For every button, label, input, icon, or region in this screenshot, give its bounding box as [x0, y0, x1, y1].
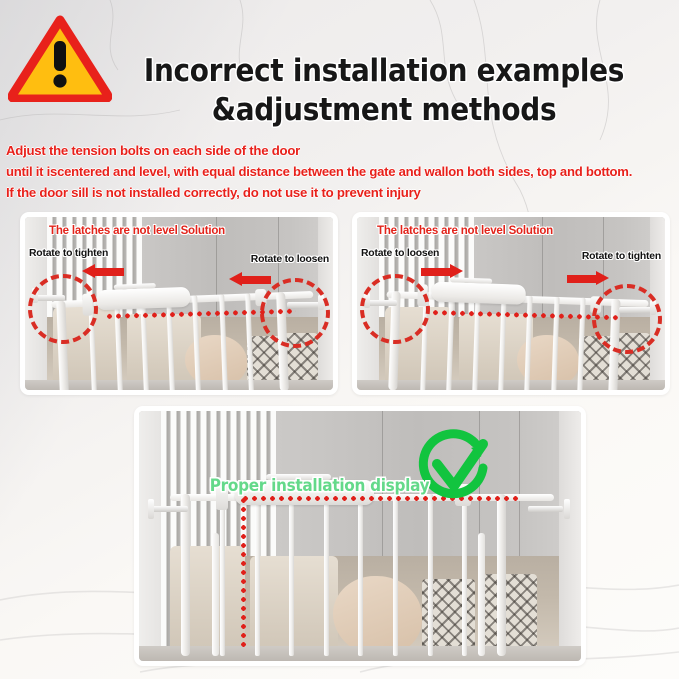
gate-latch-handle [431, 282, 526, 305]
gate-bar [192, 296, 201, 390]
gate-bar [428, 494, 433, 657]
gate-bar [550, 297, 558, 390]
instruction-line-1: Adjust the tension bolts on each side of… [6, 143, 300, 158]
gate-bar [218, 295, 227, 390]
panel-latches-not-level-right: The latches are not level Solution Rotat… [352, 212, 670, 395]
gate-bar [498, 295, 506, 390]
photo-scene-left: The latches are not level Solution Rotat… [25, 217, 333, 390]
gate-foot-left [212, 533, 219, 657]
gate-bar [255, 494, 260, 657]
instruction-line-3: If the door sill is not installed correc… [6, 185, 421, 200]
arrow-right-icon [421, 264, 463, 279]
arrow-left-icon [82, 264, 124, 279]
gate-latch-handle [95, 287, 190, 311]
arrow-left-icon [229, 272, 271, 287]
page-title-line1: Incorrect installation examples [144, 53, 624, 89]
page-title-line2: &adjustment methods [104, 91, 664, 130]
gate-bar [289, 494, 294, 657]
baby-gate [170, 494, 555, 657]
gate-foot-right [478, 533, 485, 657]
panel-title-left: The latches are not level Solution [49, 225, 225, 237]
label-rotate-to-loosen-right: Rotate to loosen [251, 254, 329, 265]
label-proper-installation: Proper installation display [210, 476, 430, 496]
highlight-circle-left [360, 274, 430, 344]
vertical-reference-dotted-line [241, 496, 246, 651]
gate-bar [577, 298, 585, 390]
photo-scene-bottom: Proper installation display [139, 411, 581, 661]
tension-bolt-right [528, 506, 563, 512]
label-rotate-to-tighten-left: Rotate to tighten [29, 248, 108, 259]
gate-bar [324, 494, 329, 657]
gate-bar [245, 294, 254, 390]
gate-bar [166, 297, 175, 390]
highlight-circle-left [28, 274, 98, 344]
gate-bar [524, 296, 532, 390]
arrow-right-icon [567, 271, 609, 286]
tension-bolt-cap-right [564, 499, 570, 519]
gate-post-right [497, 494, 506, 657]
gate-bar [358, 494, 363, 657]
panel-proper-installation: Proper installation display [134, 406, 586, 666]
warning-triangle-icon [8, 14, 112, 102]
panel-title-right: The latches are not level Solution [377, 225, 553, 237]
gate-bar [114, 299, 123, 390]
label-rotate-to-tighten-right: Rotate to tighten [582, 251, 661, 262]
tension-bolt-cap-left [148, 499, 154, 519]
panel-latches-not-level-left: The latches are not level Solution Rotat… [20, 212, 338, 395]
page-title: Incorrect installation examples &adjustm… [104, 52, 664, 130]
photo-scene-right: The latches are not level Solution Rotat… [357, 217, 665, 390]
label-rotate-to-loosen-left: Rotate to loosen [361, 248, 439, 259]
instruction-line-2: until it iscentered and level, with equa… [6, 164, 632, 179]
door-frame-right [559, 411, 581, 661]
gate-bar [472, 295, 480, 390]
gate-bar [140, 298, 149, 390]
gate-bar [446, 294, 454, 390]
tension-bolt-left [152, 506, 187, 512]
gate-bar [462, 494, 467, 657]
gate-bar [393, 494, 398, 657]
gate-post-left [181, 494, 190, 657]
gate-bar [220, 494, 225, 657]
